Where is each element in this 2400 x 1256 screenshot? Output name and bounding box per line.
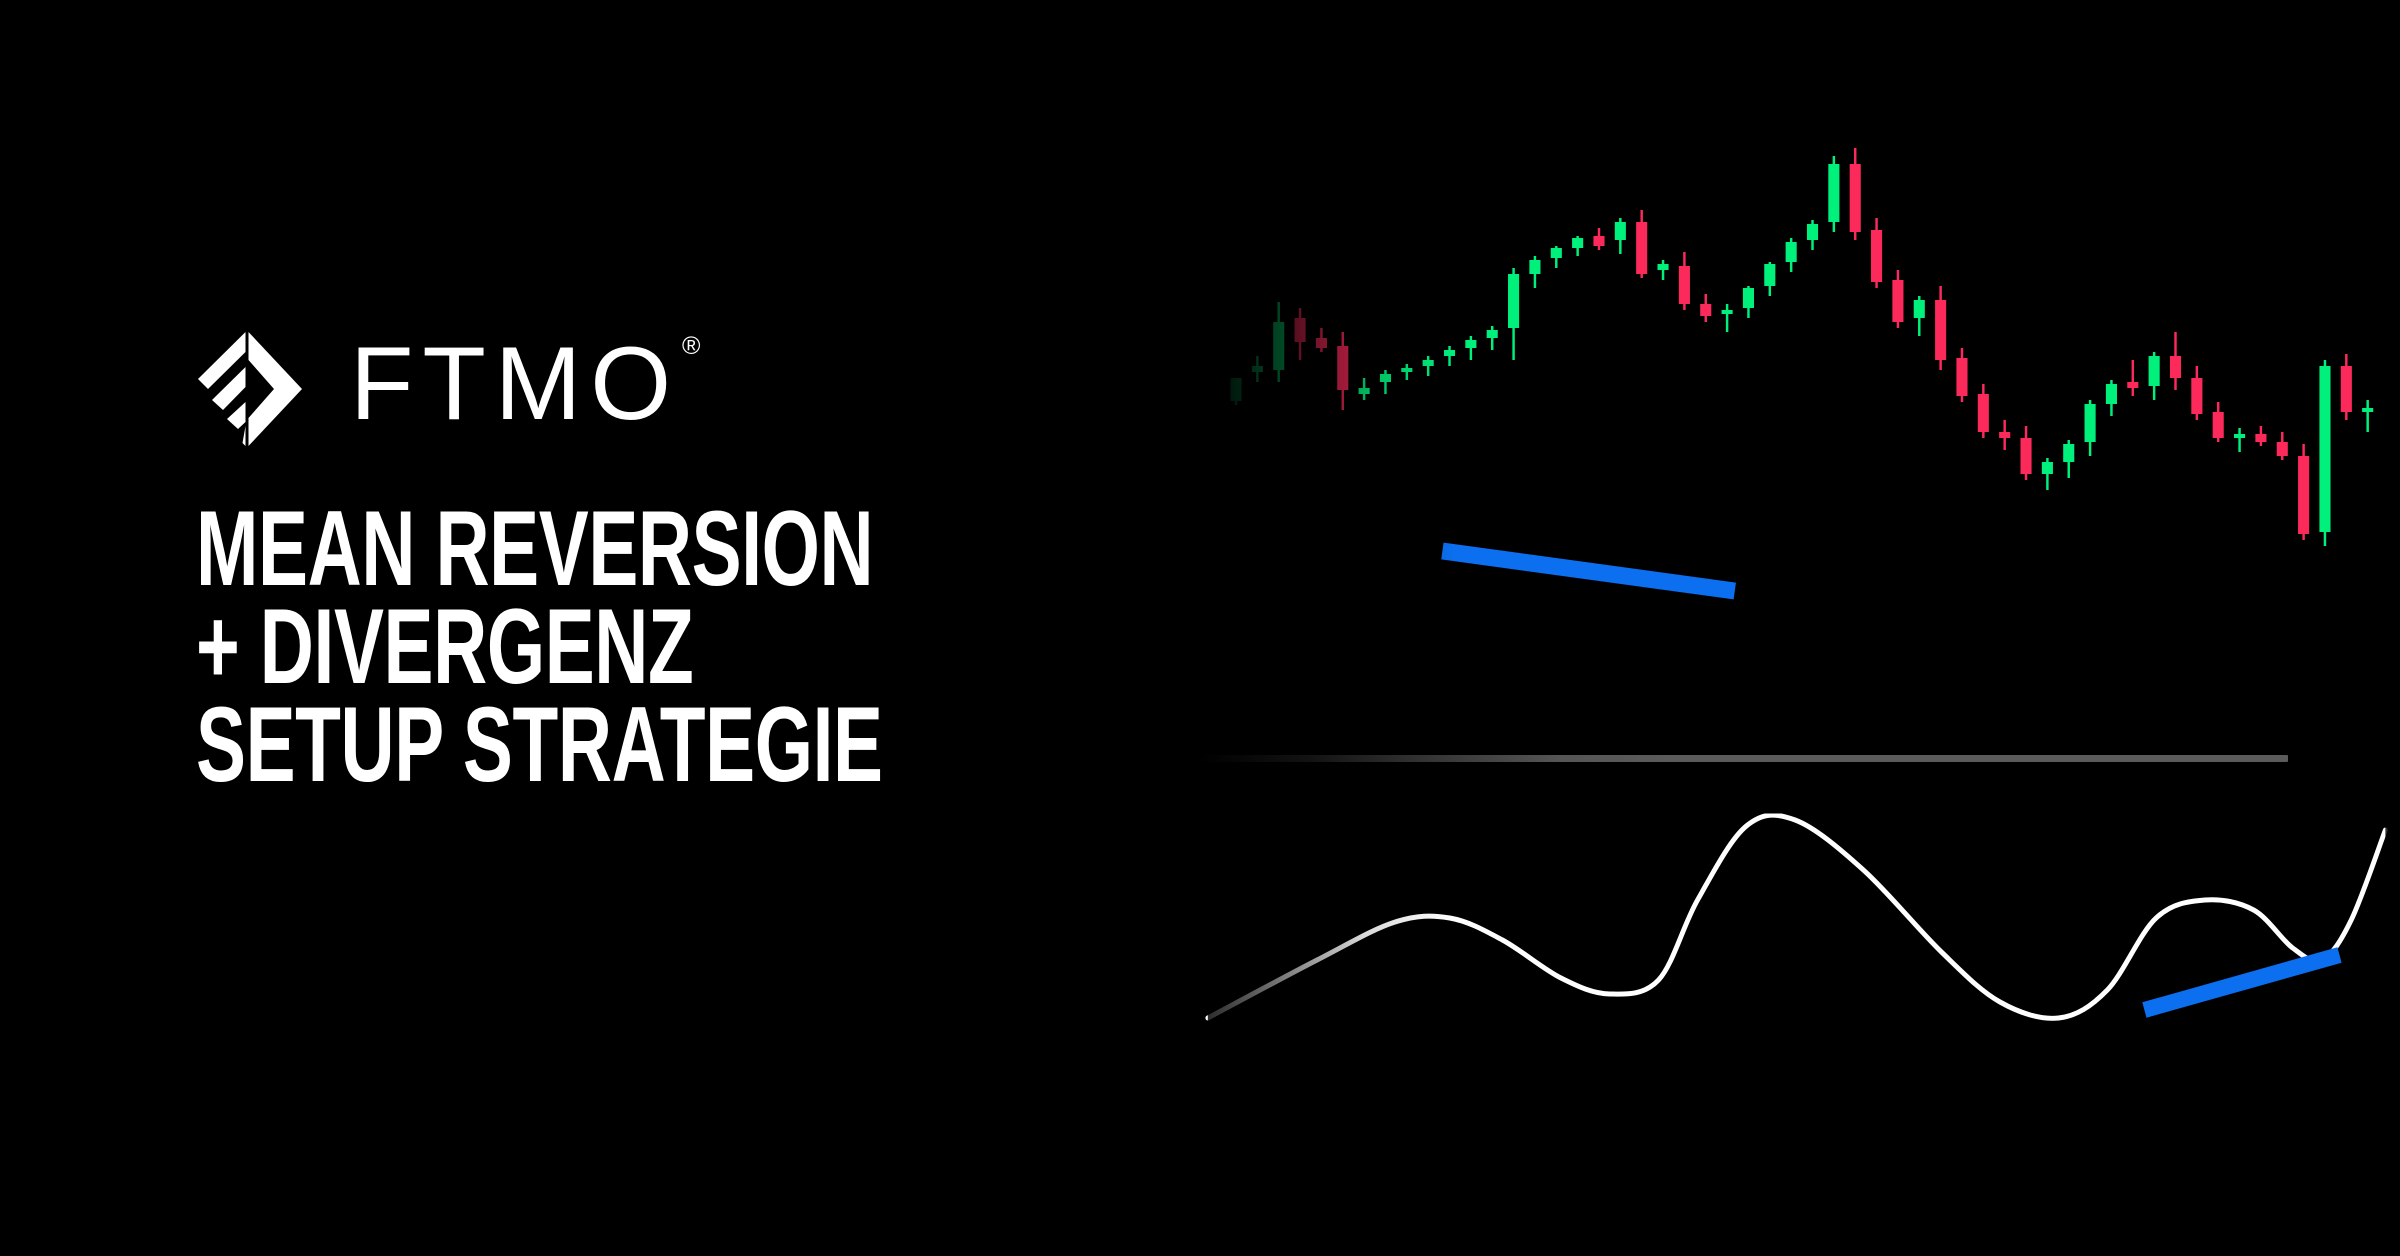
candle-body xyxy=(1401,368,1412,372)
candle-body xyxy=(1657,264,1668,270)
page-title: MEAN REVERSION + DIVERGENZ SETUP STRATEG… xyxy=(196,500,1076,794)
oscillator-uptrend-line xyxy=(2144,955,2339,1010)
candle-body xyxy=(1679,266,1690,304)
candle-body xyxy=(1273,322,1284,370)
candle-body xyxy=(2362,408,2373,412)
candle-body xyxy=(1786,242,1797,262)
candle-body xyxy=(2149,356,2160,386)
candle-wick xyxy=(2132,360,2134,396)
candle-wick xyxy=(1726,304,1728,332)
candle-body xyxy=(1764,264,1775,286)
candle-body xyxy=(1487,330,1498,338)
candle-body xyxy=(1380,374,1391,382)
candle-body xyxy=(1636,222,1647,274)
brand-wordmark-text: FTMO xyxy=(350,342,680,427)
candle-body xyxy=(2106,384,2117,404)
candle-body xyxy=(1722,310,1733,314)
candle-body xyxy=(1337,346,1348,390)
headline-line-3: SETUP STRATEGIE xyxy=(196,696,812,792)
candle-wick xyxy=(2366,400,2368,432)
candlestick-svg xyxy=(1200,60,2400,725)
candle-body xyxy=(1295,318,1306,342)
candle-body xyxy=(1914,300,1925,318)
candle-body xyxy=(1700,304,1711,316)
candle-body xyxy=(1892,280,1903,322)
headline-line-1: MEAN REVERSION xyxy=(196,500,812,596)
candle-body xyxy=(1828,164,1839,222)
oscillator-svg xyxy=(1200,790,2400,1040)
candle-body xyxy=(1508,274,1519,328)
candle-body xyxy=(2191,378,2202,414)
candle-wick xyxy=(2238,428,2240,452)
headline-line-2: + DIVERGENZ xyxy=(196,598,812,694)
candle-body xyxy=(2298,456,2309,534)
candle-body xyxy=(2170,356,2181,378)
candle-body xyxy=(1999,432,2010,438)
candle-body xyxy=(1551,248,1562,258)
candle-body xyxy=(1615,222,1626,240)
candle-body xyxy=(2234,434,2245,438)
candle-body xyxy=(2127,382,2138,388)
candle-body xyxy=(1871,230,1882,282)
candle-body xyxy=(1529,260,1540,274)
candle-body xyxy=(1850,164,1861,232)
left-content-column: FTMO ® MEAN REVERSION + DIVERGENZ SETUP … xyxy=(196,0,1096,1256)
ftmo-diamond-chevron-logo xyxy=(196,330,308,448)
candle-body xyxy=(1593,236,1604,246)
candle-body xyxy=(1444,350,1455,356)
oscillator-panel xyxy=(1200,790,2400,1040)
candle-body xyxy=(1230,378,1241,401)
candle-body xyxy=(1978,394,1989,432)
candle-body xyxy=(2020,438,2031,474)
candle-body xyxy=(1423,360,1434,366)
candle-body xyxy=(2213,412,2224,438)
candle-body xyxy=(1807,224,1818,240)
price-candlestick-panel xyxy=(1200,60,2400,725)
candle-body xyxy=(1935,300,1946,360)
candle-body xyxy=(1956,358,1967,396)
candle-body xyxy=(2277,442,2288,456)
candle-body xyxy=(1465,340,1476,348)
candle-body xyxy=(2085,404,2096,442)
brand-lockup: FTMO ® xyxy=(196,330,700,450)
candle-body xyxy=(1316,338,1327,348)
candle-body xyxy=(2063,444,2074,462)
chart-illustration xyxy=(1200,0,2400,1256)
candle-body xyxy=(2255,434,2266,442)
panel-divider xyxy=(1200,755,2288,762)
candle-body xyxy=(1252,366,1263,372)
candle-body xyxy=(1359,388,1370,394)
candle-body xyxy=(2042,462,2053,474)
registered-trademark-symbol: ® xyxy=(682,334,700,359)
candle-series xyxy=(1230,148,2373,546)
brand-wordmark-group: FTMO ® xyxy=(350,330,700,427)
candle-body xyxy=(1572,238,1583,248)
poster-canvas: FTMO ® MEAN REVERSION + DIVERGENZ SETUP … xyxy=(0,0,2400,1256)
candle-body xyxy=(2341,366,2352,412)
candle-body xyxy=(1743,288,1754,308)
price-downtrend-line xyxy=(1442,551,1734,591)
candle-body xyxy=(2319,366,2330,532)
